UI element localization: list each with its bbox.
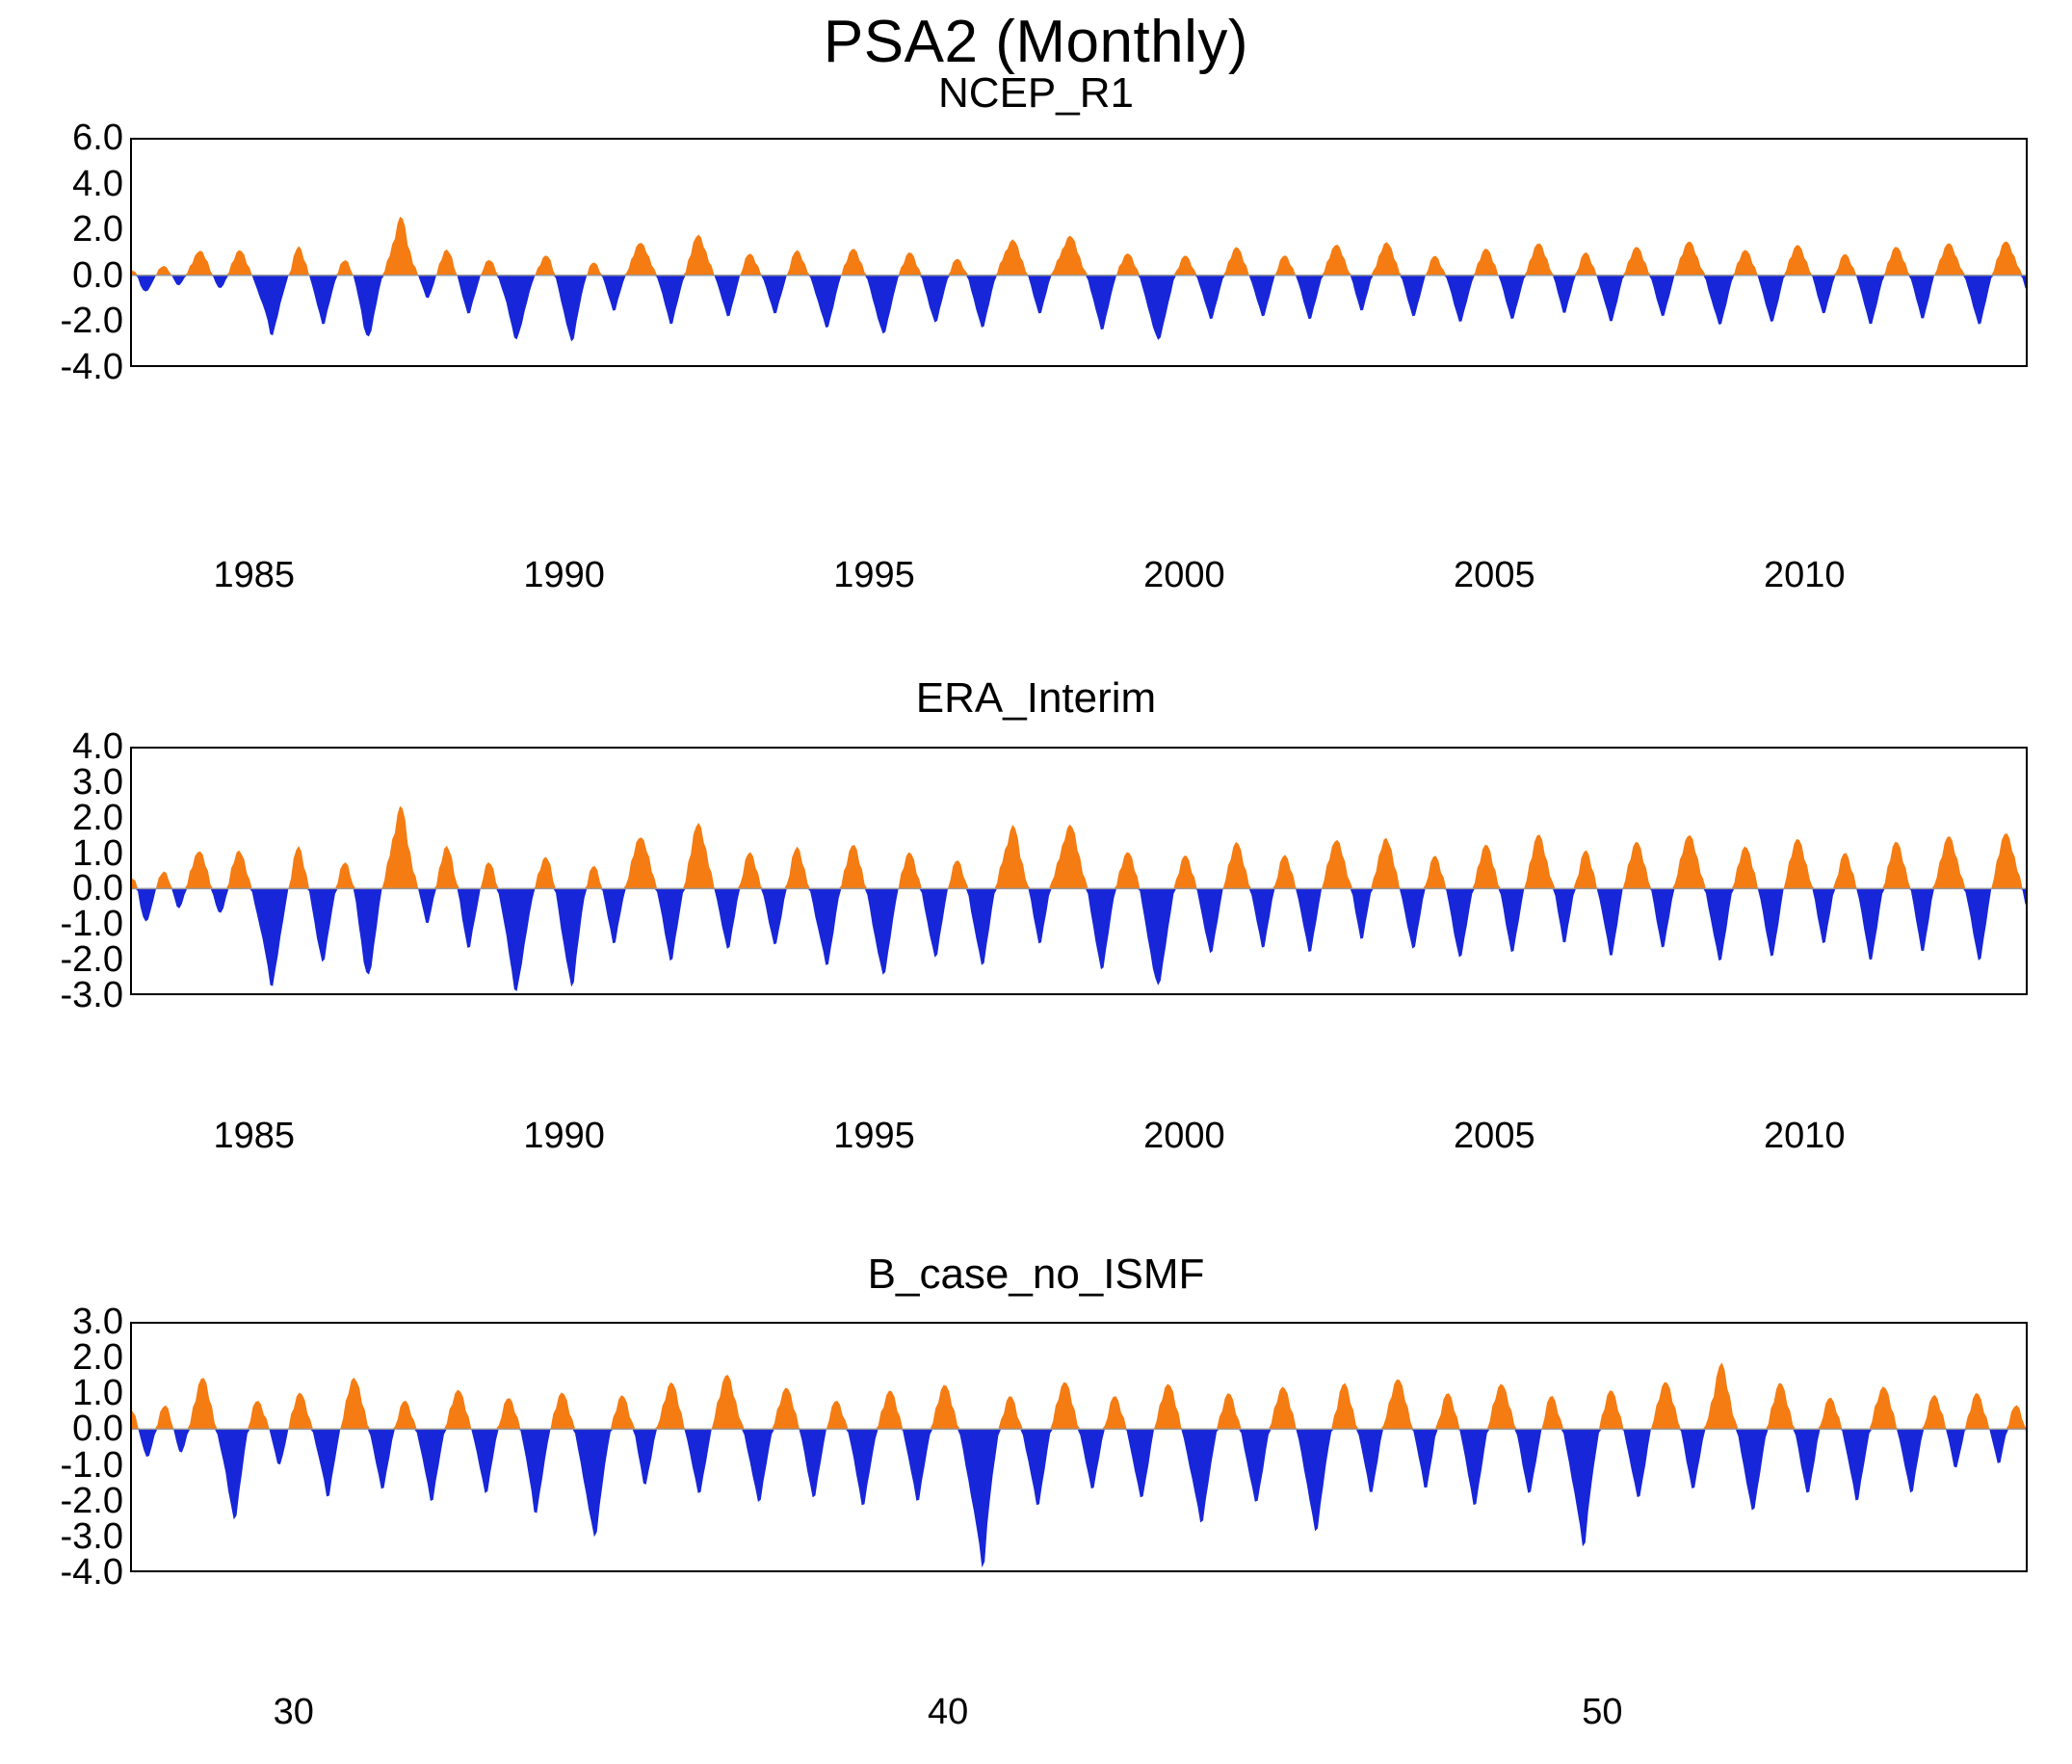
- figure-canvas: PSA2 (Monthly) NCEP_R1 6.04.02.00.0-2.0-…: [0, 0, 2072, 1764]
- y-tick-label: 0.0: [8, 257, 123, 294]
- x-tick-label: 2010: [1727, 557, 1881, 593]
- panel-title: NCEP_R1: [0, 69, 2072, 118]
- y-tick-label: -2.0: [8, 1483, 123, 1519]
- chart-svg: [130, 1322, 2028, 1572]
- panel-title: ERA_Interim: [0, 674, 2072, 723]
- y-tick-label: 1.0: [8, 835, 123, 872]
- negative-anomaly-fill: [130, 276, 2028, 342]
- page-title: PSA2 (Monthly): [0, 8, 2072, 76]
- y-tick-label: 0.0: [8, 1410, 123, 1447]
- x-tick-label: 1985: [177, 557, 331, 593]
- positive-anomaly-fill: [130, 805, 2028, 888]
- panel-title: B_case_no_ISMF: [0, 1251, 2072, 1299]
- x-tick-label: 2005: [1417, 557, 1571, 593]
- y-tick-label: 4.0: [8, 166, 123, 202]
- x-tick-label: 2010: [1727, 1118, 1881, 1154]
- y-tick-label: 2.0: [8, 211, 123, 248]
- plot-area-b-case-no-ismf: [130, 1322, 2028, 1572]
- y-tick-label: 3.0: [8, 1303, 123, 1340]
- y-tick-label: -4.0: [8, 1554, 123, 1591]
- y-tick-label: -3.0: [8, 1518, 123, 1555]
- negative-anomaly-fill: [130, 888, 2028, 990]
- y-tick-label: 6.0: [8, 119, 123, 156]
- chart-svg: [130, 747, 2028, 995]
- x-tick-label: 1990: [487, 557, 642, 593]
- y-tick-label: 2.0: [8, 800, 123, 836]
- x-tick-label: 1985: [177, 1118, 331, 1154]
- x-tick-label: 40: [871, 1694, 1025, 1730]
- x-tick-label: 1995: [798, 557, 952, 593]
- positive-anomaly-fill: [130, 1362, 2028, 1429]
- y-tick-label: 1.0: [8, 1375, 123, 1411]
- y-tick-label: 4.0: [8, 728, 123, 765]
- x-tick-label: 2000: [1107, 1118, 1261, 1154]
- y-tick-label: -1.0: [8, 1447, 123, 1484]
- positive-anomaly-fill: [130, 217, 2028, 276]
- y-tick-label: -2.0: [8, 941, 123, 978]
- y-tick-label: 3.0: [8, 764, 123, 801]
- plot-area-ncep-r1: [130, 138, 2028, 367]
- y-tick-label: 2.0: [8, 1339, 123, 1376]
- x-tick-label: 30: [217, 1694, 371, 1730]
- y-tick-label: -2.0: [8, 303, 123, 339]
- x-tick-label: 2000: [1107, 557, 1261, 593]
- y-tick-label: -3.0: [8, 977, 123, 1014]
- chart-svg: [130, 138, 2028, 367]
- y-tick-label: -1.0: [8, 906, 123, 942]
- y-tick-label: 0.0: [8, 870, 123, 907]
- y-tick-label: -4.0: [8, 349, 123, 385]
- x-tick-label: 2005: [1417, 1118, 1571, 1154]
- x-tick-label: 1995: [798, 1118, 952, 1154]
- x-tick-label: 1990: [487, 1118, 642, 1154]
- x-tick-label: 50: [1525, 1694, 1679, 1730]
- negative-anomaly-fill: [130, 1429, 2028, 1567]
- plot-area-era-interim: [130, 747, 2028, 995]
